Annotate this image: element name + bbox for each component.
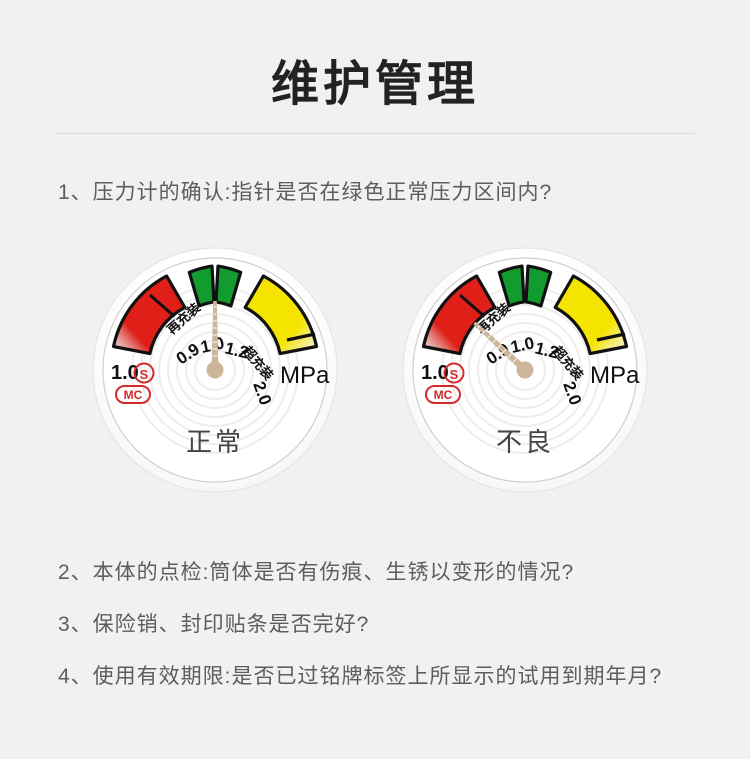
svg-text:S: S	[450, 367, 459, 382]
gauge-status-label: 不良	[496, 427, 554, 457]
unit-label: MPa	[280, 362, 330, 389]
gauge-normal: 再充装 超充装 0.9 1.0 1.2 2.0 1.0 S MC MPa	[90, 243, 340, 493]
checklist-item-2: 2、本体的点检:筒体是否有伤痕、生锈以变形的情况?	[58, 556, 574, 586]
svg-text:MC: MC	[434, 388, 453, 402]
svg-text:MC: MC	[124, 388, 143, 402]
page-title: 维护管理	[0, 55, 750, 115]
unit-label: MPa	[590, 362, 640, 389]
svg-text:S: S	[140, 367, 149, 382]
checklist-item-3: 3、保险销、封印贴条是否完好?	[58, 608, 369, 638]
title-divider	[55, 133, 695, 134]
checklist-item-4: 4、使用有效期限:是否已过铭牌标签上所显示的试用到期年月?	[58, 660, 662, 690]
gauge-status-label: 正常	[186, 427, 244, 457]
maintenance-page: 维护管理 1、压力计的确认:指针是否在绿色正常压力区间内?	[0, 0, 750, 759]
gauge-defective: 再充装 超充装 0.9 1.0 1.2 2.0 1.0 S MC MPa	[400, 243, 650, 493]
checklist-item-1: 1、压力计的确认:指针是否在绿色正常压力区间内?	[58, 176, 552, 206]
gauge-row: 再充装 超充装 0.9 1.0 1.2 2.0 1.0 S MC MPa	[0, 243, 750, 508]
